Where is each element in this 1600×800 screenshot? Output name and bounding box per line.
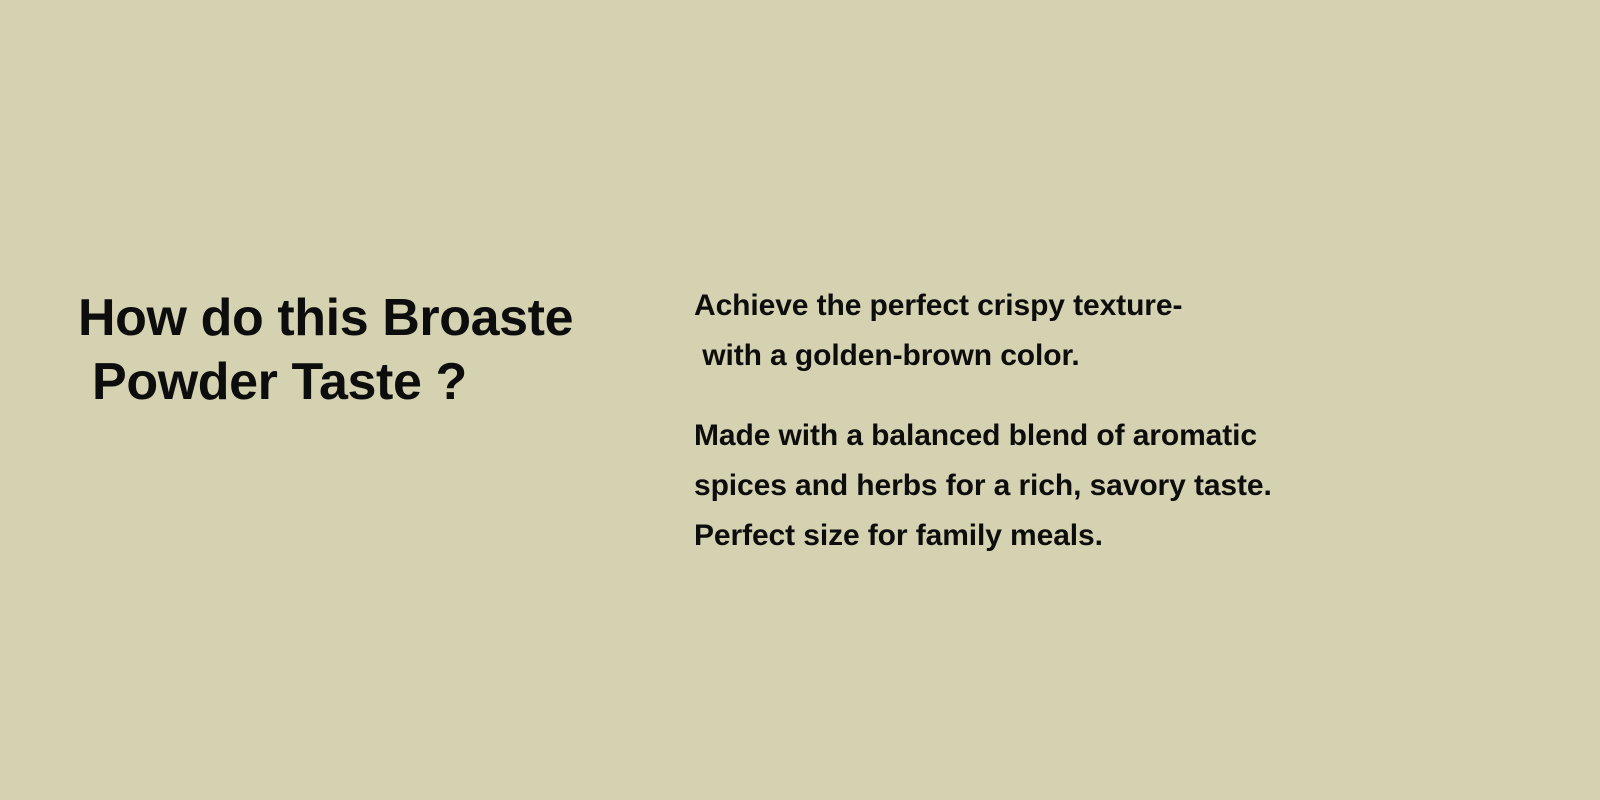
paragraph-2-line-2: spices and herbs for a rich, savory tast…	[694, 461, 1334, 511]
slide-canvas: How do this Broaste Powder Taste ? Achie…	[0, 0, 1600, 800]
heading-line-2: Powder Taste ?	[78, 350, 638, 414]
description-paragraph-2: Made with a balanced blend of aromatic s…	[694, 411, 1334, 561]
heading-line-1: How do this Broaste	[78, 286, 638, 350]
paragraph-2-line-1: Made with a balanced blend of aromatic	[694, 411, 1334, 461]
question-heading: How do this Broaste Powder Taste ?	[78, 286, 638, 414]
paragraph-2-line-3: Perfect size for family meals.	[694, 511, 1334, 561]
description-paragraph-1: Achieve the perfect crispy texture- with…	[694, 281, 1334, 381]
paragraph-1-line-1: Achieve the perfect crispy texture-	[694, 281, 1334, 331]
paragraph-1-line-2: with a golden-brown color.	[694, 331, 1334, 381]
description-block: Achieve the perfect crispy texture- with…	[694, 281, 1334, 561]
